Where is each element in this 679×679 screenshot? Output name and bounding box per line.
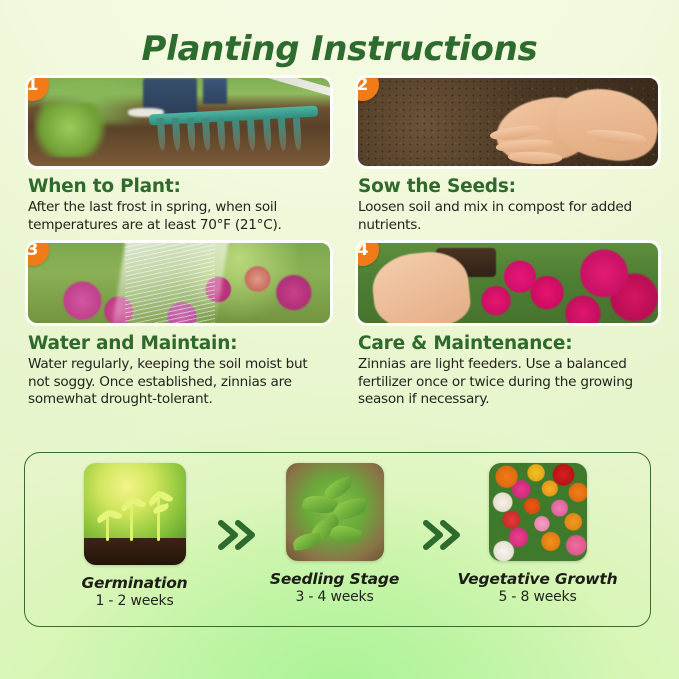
- planting-instructions-infographic: Planting Instructions 1 When to Plant: A…: [0, 0, 679, 679]
- step-card-2: 2 Sow the Seeds: Loosen soil and mix in …: [358, 78, 658, 234]
- timeline-stage-germination: Germination 1 - 2 weeks: [47, 463, 222, 609]
- stage-2-name: Seedling Stage: [247, 570, 422, 588]
- hand-holding-pink-zinnia-image: [358, 243, 658, 323]
- step-3-heading: Water and Maintain:: [28, 333, 330, 354]
- growth-timeline-panel: Germination 1 - 2 weeks Seedling Stage 3…: [24, 452, 651, 627]
- page-title: Planting Instructions: [0, 29, 679, 69]
- step-card-4: 4 Care & Maintenance: Zinnias are light …: [358, 243, 658, 409]
- timeline-stage-vegetative-growth: Vegetative Growth 5 - 8 weeks: [450, 463, 625, 605]
- step-3-body: Water regularly, keeping the soil moist …: [28, 356, 330, 409]
- colorful-zinnia-blooms-image: [489, 463, 587, 561]
- stage-3-name: Vegetative Growth: [450, 570, 625, 588]
- timeline-stage-seedling: Seedling Stage 3 - 4 weeks: [247, 463, 422, 605]
- garden-rake-tilling-soil-image: [28, 78, 330, 166]
- step-1-photo: 1: [28, 78, 330, 166]
- seedlings-sprouting-in-soil-image: [84, 463, 186, 565]
- step-3-photo: 3: [28, 243, 330, 323]
- step-1-body: After the last frost in spring, when soi…: [28, 199, 330, 234]
- step-4-photo: 4: [358, 243, 658, 323]
- step-2-photo: 2: [358, 78, 658, 166]
- stage-2-duration: 3 - 4 weeks: [247, 589, 422, 605]
- stage-1-duration: 1 - 2 weeks: [47, 593, 222, 609]
- stage-3-duration: 5 - 8 weeks: [450, 589, 625, 605]
- step-1-heading: When to Plant:: [28, 176, 330, 197]
- young-green-seedling-plant-image: [286, 463, 384, 561]
- step-4-heading: Care & Maintenance:: [358, 333, 658, 354]
- step-2-body: Loosen soil and mix in compost for added…: [358, 199, 658, 234]
- hands-patting-dark-soil-image: [358, 78, 658, 166]
- stage-1-name: Germination: [47, 574, 222, 592]
- step-2-heading: Sow the Seeds:: [358, 176, 658, 197]
- step-card-3: 3 Water and Maintain: Water regularly, k…: [28, 243, 330, 409]
- step-4-body: Zinnias are light feeders. Use a balance…: [358, 356, 658, 409]
- step-card-1: 1 When to Plant: After the last frost in…: [28, 78, 330, 234]
- watering-zinnia-flowers-image: [28, 243, 330, 323]
